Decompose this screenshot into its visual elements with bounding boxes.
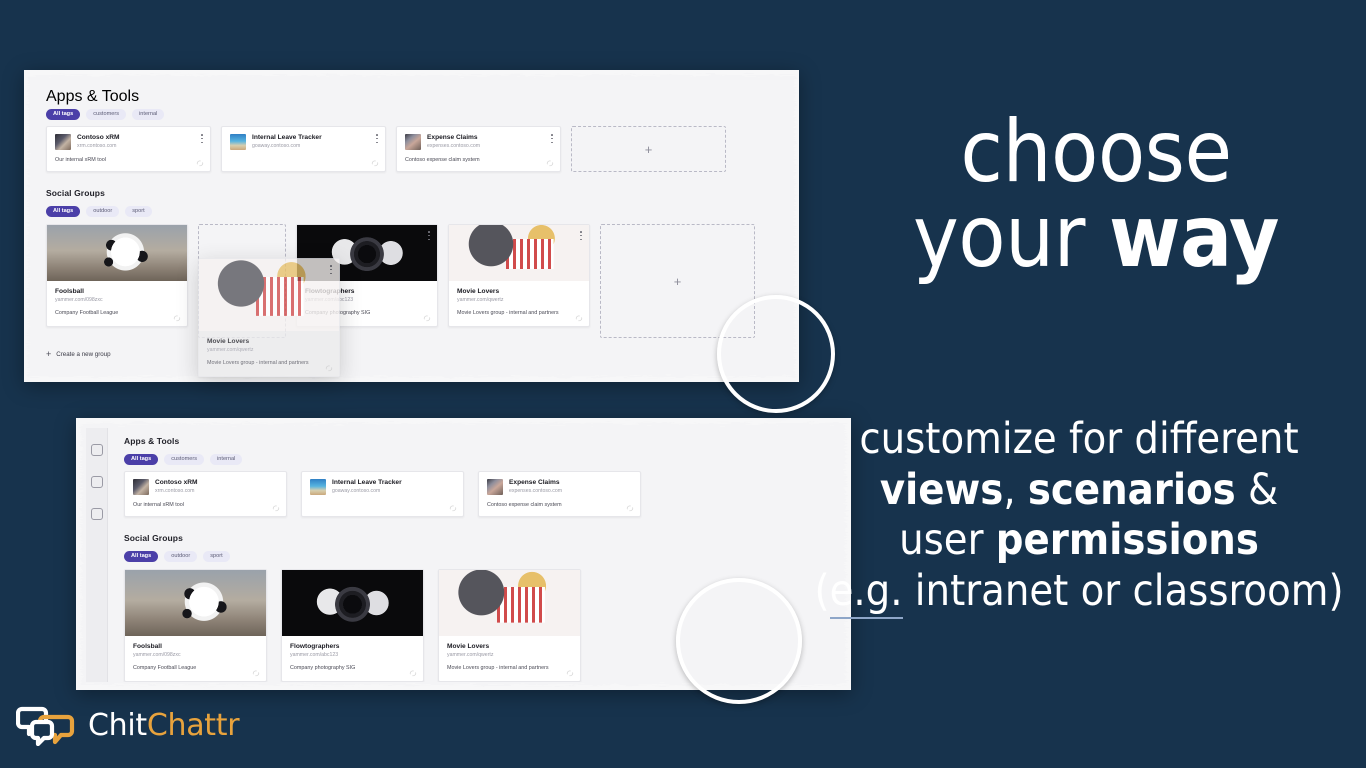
app-card-contoso-xrm[interactable]: Contoso xRM xrm.contoso.com Our internal… [46, 126, 211, 172]
group-card-desc: Movie Lovers group - internal and partne… [207, 360, 331, 366]
group-card-foolsball[interactable]: Foolsball yammer.com/098zxc Company Foot… [124, 569, 267, 682]
subcopy-sep: , [1003, 465, 1028, 515]
rail-icon-3[interactable] [91, 508, 103, 520]
app-card-url: goaway.contoso.com [252, 143, 322, 150]
app-card-expense-claims[interactable]: Expense Claims expenses.contoso.com Cont… [478, 471, 641, 517]
app-card-name: Internal Leave Tracker [252, 134, 322, 142]
rail-icon-2[interactable] [91, 476, 103, 488]
group-card-desc: Company Football League [133, 665, 258, 671]
app-card-desc: Our internal xRM tool [133, 502, 278, 508]
more-options-icon[interactable] [551, 134, 553, 143]
plus-icon: + [46, 350, 51, 359]
tag-pill-all[interactable]: All tags [124, 454, 158, 465]
group-card-name: Foolsball [133, 643, 258, 650]
app-card-name: Expense Claims [427, 134, 480, 142]
section-title-social-groups: Social Groups [46, 188, 105, 198]
more-options-icon[interactable] [376, 134, 378, 143]
tag-pill-all[interactable]: All tags [46, 109, 80, 120]
subcopy-bold-permissions: permissions [996, 515, 1259, 565]
avatar-man [676, 578, 802, 704]
subcopy-line-4: (e.g. intranet or classroom) [806, 566, 1352, 617]
bearded-man-portrait [680, 582, 798, 700]
subcopy-line-2-tail: & [1236, 465, 1278, 515]
group-card-desc: Company photography SIG [290, 665, 415, 671]
group-card-desc: Company Football League [55, 310, 179, 316]
app-left-rail[interactable] [86, 428, 108, 682]
brand-wordmark: ChitChattr [88, 708, 239, 743]
link-corner-icon [423, 314, 431, 322]
beach-app-icon [310, 479, 326, 495]
group-card-foolsball[interactable]: Foolsball yammer.com/098zxc Company Foot… [46, 224, 188, 327]
brand-name-part2: Chattr [147, 708, 239, 743]
subcopy-line-3: user permissions [806, 515, 1352, 566]
football-photo [47, 225, 187, 281]
link-corner-icon [272, 504, 280, 512]
film-popcorn-photo [199, 259, 339, 331]
subcopy-bold-scenarios: scenarios [1028, 465, 1236, 515]
subcopy: customize for different views, scenarios… [806, 414, 1352, 617]
group-card-name: Flowtographers [290, 643, 415, 650]
create-new-group-link[interactable]: + Create a new group [46, 350, 111, 359]
create-new-group-label: Create a new group [56, 351, 110, 358]
add-app-dropzone[interactable]: + [571, 126, 726, 172]
link-corner-icon [371, 159, 379, 167]
subcopy-bold-views: views [880, 465, 1003, 515]
tag-pill-outdoor[interactable]: outdoor [86, 206, 119, 217]
headline: choose your way [840, 110, 1352, 280]
expense-app-icon [487, 479, 503, 495]
app-card-desc: Contoso expense claim system [487, 502, 632, 508]
app-card-url: expenses.contoso.com [509, 488, 562, 495]
tag-pill-outdoor[interactable]: outdoor [164, 551, 197, 562]
film-popcorn-photo [449, 225, 589, 281]
subcopy-line-1: customize for different [806, 414, 1352, 465]
more-options-icon[interactable] [201, 134, 203, 143]
tag-pill-internal[interactable]: internal [210, 454, 242, 465]
app-card-url: expenses.contoso.com [427, 143, 480, 150]
subcopy-line-4-rest: intranet or classroom) [903, 566, 1344, 616]
more-options-icon[interactable] [580, 231, 582, 240]
app-card-url: xrm.contoso.com [155, 488, 198, 495]
subcopy-spellcheck-eg: e.g. [830, 566, 903, 619]
link-corner-icon [173, 314, 181, 322]
tag-pill-sport[interactable]: sport [125, 206, 151, 217]
app-card-name: Contoso xRM [155, 479, 198, 487]
group-card-desc: Movie Lovers group - internal and partne… [447, 665, 572, 671]
subcopy-line-2: views, scenarios & [806, 465, 1352, 516]
tag-filter-social-groups[interactable]: All tags outdoor sport [46, 206, 152, 217]
tag-filter-apps-tools[interactable]: All tags customers internal [124, 454, 242, 465]
app-card-name: Internal Leave Tracker [332, 479, 402, 487]
link-corner-icon [252, 669, 260, 677]
apps-tools-card-row: Contoso xRM xrm.contoso.com Our internal… [124, 471, 641, 517]
section-title-apps-tools: Apps & Tools [124, 436, 179, 446]
xrm-app-icon [55, 134, 71, 150]
group-card-name: Movie Lovers [457, 288, 581, 295]
group-card-url: yammer.com/098zxc [133, 652, 258, 658]
headline-line-2-plain: your [913, 187, 1109, 287]
app-card-internal-leave-tracker[interactable]: Internal Leave Tracker goaway.contoso.co… [301, 471, 464, 517]
group-card-desc: Movie Lovers group - internal and partne… [457, 310, 581, 316]
tag-pill-all[interactable]: All tags [46, 206, 80, 217]
headline-line-2-bold: way [1109, 187, 1279, 287]
plus-icon: + [645, 143, 653, 156]
group-card-name: Movie Lovers [207, 338, 331, 345]
app-card-desc: Contoso expense claim system [405, 157, 552, 163]
link-corner-icon [566, 669, 574, 677]
panel-top-content: Apps & Tools All tags customers internal… [32, 78, 793, 374]
brand-name-part1: Chit [88, 708, 147, 743]
social-groups-card-row: Foolsball yammer.com/098zxc Company Foot… [124, 569, 581, 682]
avatar-woman [717, 295, 835, 413]
subcopy-line-3-plain: user [899, 515, 996, 565]
tag-filter-social-groups[interactable]: All tags outdoor sport [124, 551, 230, 562]
group-card-url: yammer.com/098zxc [55, 297, 179, 303]
double-speech-bubble-icon [16, 704, 78, 746]
apps-tools-card-row: Contoso xRM xrm.contoso.com Our internal… [46, 126, 726, 172]
link-corner-icon [575, 314, 583, 322]
group-card-movie-lovers[interactable]: Movie Lovers yammer.com/qwertz Movie Lov… [448, 224, 590, 327]
app-card-internal-leave-tracker[interactable]: Internal Leave Tracker goaway.contoso.co… [221, 126, 386, 172]
app-card-name: Expense Claims [509, 479, 562, 487]
group-card-flowtographers[interactable]: Flowtographers yammer.com/abc123 Company… [281, 569, 424, 682]
app-card-expense-claims[interactable]: Expense Claims expenses.contoso.com Cont… [396, 126, 561, 172]
beach-app-icon [230, 134, 246, 150]
more-options-icon[interactable] [330, 265, 332, 274]
link-corner-icon [196, 159, 204, 167]
social-groups-card-row: Foolsball yammer.com/098zxc Company Foot… [46, 224, 755, 338]
tag-pill-all[interactable]: All tags [124, 551, 158, 562]
xrm-app-icon [133, 479, 149, 495]
group-card-url: yammer.com/qwertz [447, 652, 572, 658]
brand-logo: ChitChattr [16, 704, 239, 746]
link-corner-icon [449, 504, 457, 512]
screenshot-panel-top: Apps & Tools All tags customers internal… [24, 70, 799, 382]
app-card-name: Contoso xRM [77, 134, 120, 142]
group-card-name: Movie Lovers [447, 643, 572, 650]
tag-pill-customers[interactable]: customers [86, 109, 126, 120]
camera-photo [282, 570, 423, 636]
rail-icon-1[interactable] [91, 444, 103, 456]
tag-filter-apps-tools[interactable]: All tags customers internal [46, 109, 164, 120]
subcopy-paren-open: ( [814, 566, 829, 616]
group-card-url: yammer.com/qwertz [457, 297, 581, 303]
smiling-woman-portrait [721, 299, 831, 409]
group-card-movie-lovers[interactable]: Movie Lovers yammer.com/qwertz Movie Lov… [438, 569, 581, 682]
tag-pill-customers[interactable]: customers [164, 454, 204, 465]
link-corner-icon [626, 504, 634, 512]
group-card-name: Foolsball [55, 288, 179, 295]
plus-icon: + [674, 275, 682, 288]
section-title-apps-tools: Apps & Tools [46, 88, 139, 106]
link-corner-icon [409, 669, 417, 677]
link-corner-icon [325, 364, 333, 372]
tag-pill-sport[interactable]: sport [203, 551, 229, 562]
dragging-group-card-movie-lovers[interactable]: Movie Lovers yammer.com/qwertz Movie Lov… [198, 258, 340, 377]
more-options-icon[interactable] [428, 231, 430, 240]
headline-line-2: your way [840, 195, 1352, 280]
app-card-url: xrm.contoso.com [77, 143, 120, 150]
group-card-url: yammer.com/qwertz [207, 347, 331, 353]
app-card-contoso-xrm[interactable]: Contoso xRM xrm.contoso.com Our internal… [124, 471, 287, 517]
app-card-desc: Our internal xRM tool [55, 157, 202, 163]
app-card-url: goaway.contoso.com [332, 488, 402, 495]
group-card-url: yammer.com/abc123 [290, 652, 415, 658]
tag-pill-internal[interactable]: internal [132, 109, 164, 120]
football-photo [125, 570, 266, 636]
section-title-social-groups: Social Groups [124, 533, 183, 543]
film-popcorn-photo [439, 570, 580, 636]
expense-app-icon [405, 134, 421, 150]
link-corner-icon [546, 159, 554, 167]
